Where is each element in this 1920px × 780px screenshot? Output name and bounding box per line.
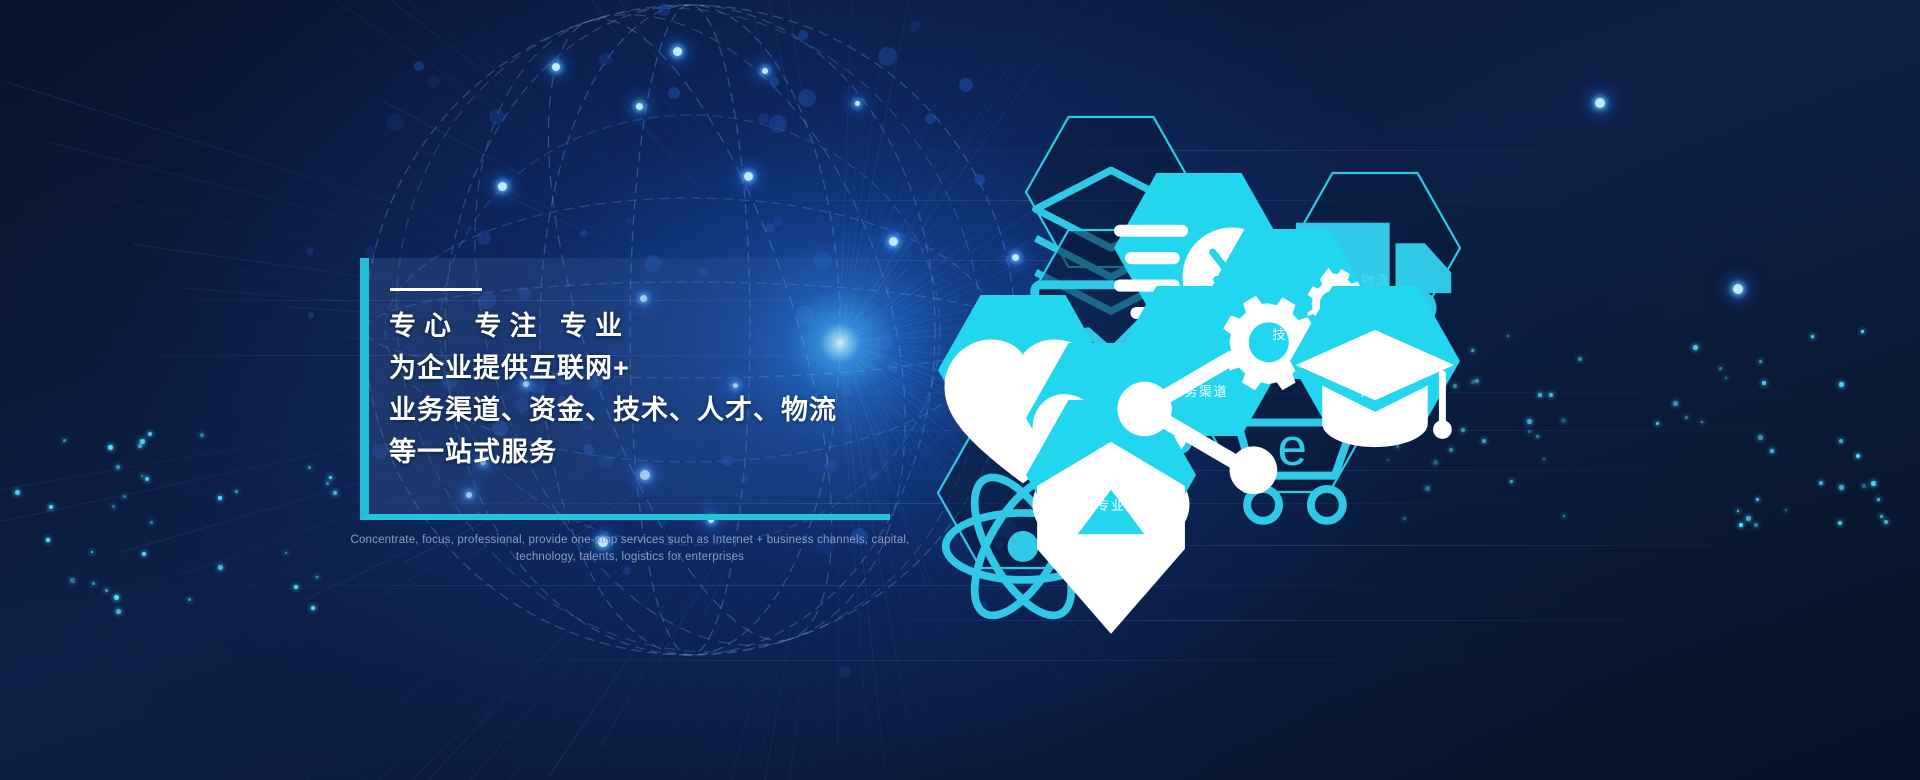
banner-stage: 专心 专注 专业 为企业提供互联网+ 业务渠道、资金、技术、人才、物流 等一站式… [0,0,1920,780]
hex-rencai[interactable]: 人才 [1290,286,1460,436]
graduation-icon [1290,324,1460,459]
hexagon-cluster: 专心 专注 专业 [0,0,1920,780]
